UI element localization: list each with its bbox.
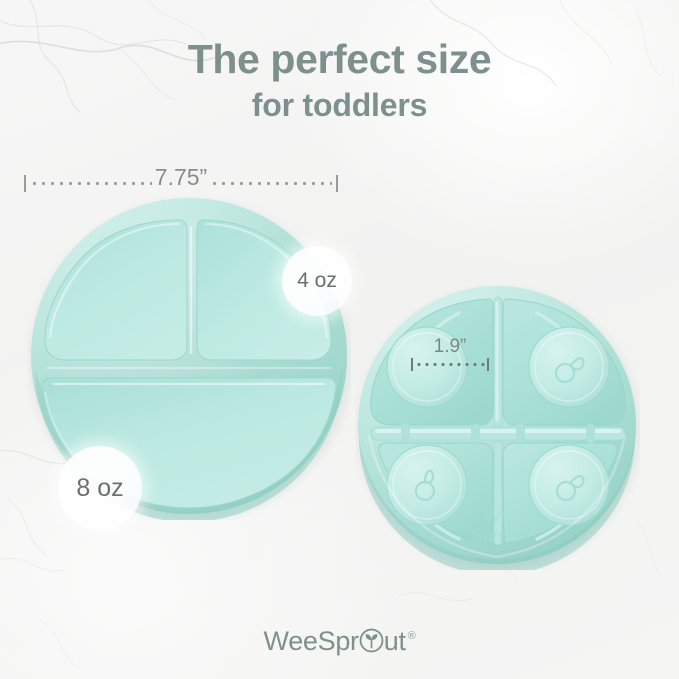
suction-dimension-dotted-line bbox=[415, 363, 485, 366]
capacity-badge-8oz: 8 oz bbox=[58, 446, 142, 530]
suction-dimension-cap-left bbox=[411, 358, 413, 371]
product-infographic: The perfect size for toddlers 7.75” bbox=[0, 0, 679, 679]
sprout-icon bbox=[359, 628, 384, 660]
embossed-brand-line2: Sprout bbox=[472, 526, 522, 545]
brand-logo: WeeSpr ut ® bbox=[0, 625, 679, 657]
brand-wordmark: WeeSpr ut ® bbox=[264, 625, 416, 657]
suction-cup-lower-left bbox=[387, 445, 467, 525]
suction-cup-lower-right bbox=[529, 445, 609, 525]
dimension-dotted-line-left bbox=[30, 182, 152, 185]
suction-cup-upper-right bbox=[529, 327, 609, 407]
headline-primary: The perfect size bbox=[0, 36, 679, 82]
suction-cup-label: 1.9” bbox=[434, 336, 467, 358]
plate-width-dimension: 7.75” bbox=[24, 170, 338, 196]
divided-toddler-plate-back: We Sprout bbox=[355, 285, 640, 570]
suction-dimension-cap-right bbox=[487, 358, 489, 371]
capacity-badge-4oz-label: 4 oz bbox=[297, 269, 337, 293]
capacity-badge-4oz: 4 oz bbox=[282, 246, 352, 316]
registered-trademark-icon: ® bbox=[408, 630, 416, 642]
plate-width-label: 7.75” bbox=[148, 164, 214, 191]
suction-cup-dimension: 1.9” bbox=[411, 340, 489, 372]
dimension-cap-right bbox=[336, 175, 338, 192]
capacity-badge-8oz-label: 8 oz bbox=[76, 474, 123, 503]
dimension-cap-left bbox=[24, 175, 26, 192]
headline-secondary: for toddlers bbox=[0, 86, 679, 124]
headline-block: The perfect size for toddlers bbox=[0, 36, 679, 124]
brand-name-part2: ut bbox=[384, 626, 406, 657]
brand-name-part1: WeeSpr bbox=[264, 626, 359, 657]
dimension-dotted-line-right bbox=[210, 182, 332, 185]
embossed-brand-line1: We bbox=[484, 506, 509, 525]
